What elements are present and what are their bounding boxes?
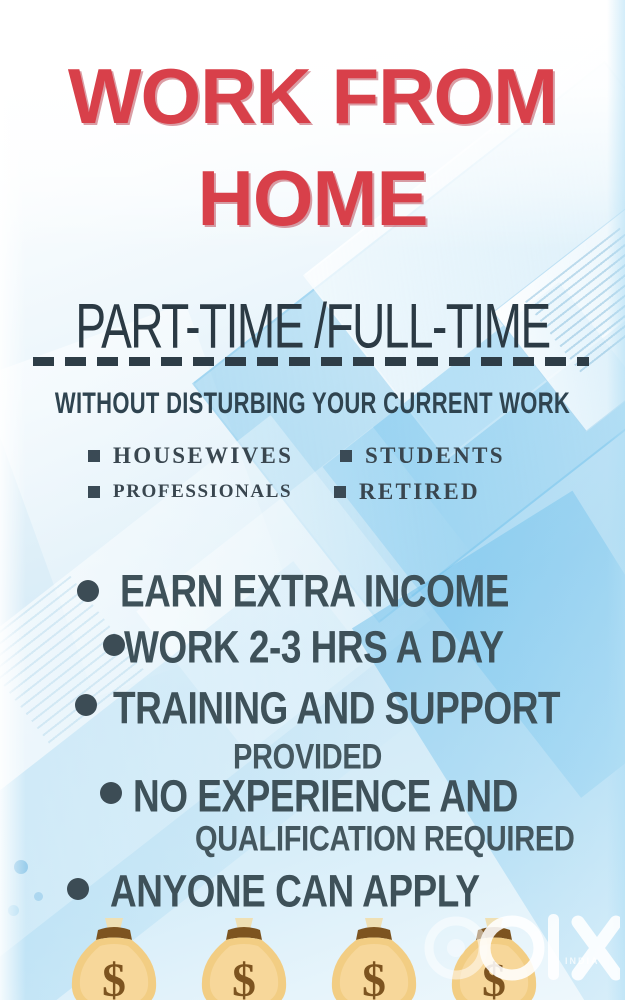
subheadline-secondary: WITHOUT DISTURBING YOUR CURRENT WORK [0, 386, 625, 421]
round-bullet-icon [75, 694, 97, 716]
round-bullet-icon [67, 878, 89, 900]
square-bullet-icon [340, 450, 352, 462]
money-bag-icon: $ [320, 916, 428, 1000]
benefit-earn-extra-income: EARN EXTRA INCOME [120, 566, 509, 617]
svg-text:$: $ [362, 954, 386, 1000]
dashed-divider [33, 357, 589, 366]
audience-item-students: STUDENTS [340, 443, 505, 469]
round-bullet-icon [103, 634, 125, 656]
benefit-training-support: TRAINING AND SUPPORT [113, 683, 560, 734]
audience-item-housewives: HOUSEWIVES [88, 443, 293, 469]
poster: WORK FROM HOME PART-TIME /FULL-TIME WITH… [0, 0, 625, 1000]
svg-text:$: $ [232, 954, 256, 1000]
audience-item-label: RETIRED [359, 479, 480, 505]
money-bag-icon: $ [60, 916, 168, 1000]
benefit-no-experience: NO EXPERIENCE AND [133, 771, 518, 822]
audience-item-label: HOUSEWIVES [113, 443, 293, 469]
square-bullet-icon [88, 450, 100, 462]
benefit-no-experience-sub: QUALIFICATION REQUIRED [195, 820, 575, 860]
round-bullet-icon [100, 782, 122, 804]
benefit-work-hours: WORK 2-3 HRS A DAY [124, 622, 504, 673]
audience-item-label: STUDENTS [365, 443, 505, 469]
olx-watermark [420, 908, 620, 986]
square-bullet-icon [334, 486, 346, 498]
headline-line-2: HOME [0, 160, 625, 236]
audience-item-label: PROFESSIONALS [113, 481, 292, 503]
round-bullet-icon [77, 580, 99, 602]
olx-watermark-region: INDIA [565, 956, 600, 966]
headline-line-1: WORK FROM [0, 58, 625, 134]
audience-item-professionals: PROFESSIONALS [88, 481, 292, 503]
subheadline: PART-TIME /FULL-TIME [0, 288, 625, 363]
square-bullet-icon [88, 486, 100, 498]
svg-text:$: $ [102, 954, 126, 1000]
money-bag-icon: $ [190, 916, 298, 1000]
audience-item-retired: RETIRED [334, 479, 480, 505]
